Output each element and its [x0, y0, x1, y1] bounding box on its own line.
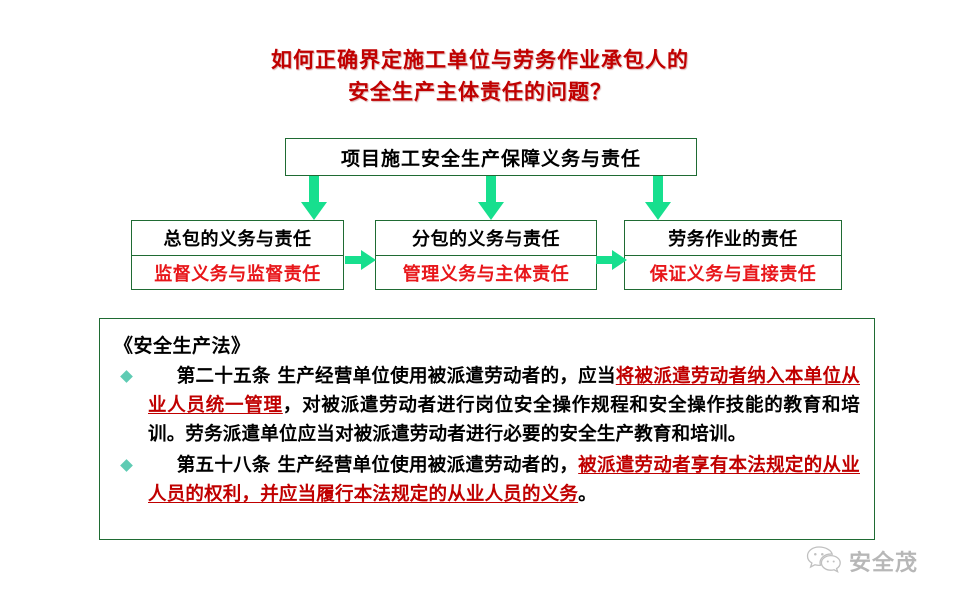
- law-reference-panel: 《安全生产法》 第二十五条 生产经营单位使用被派遣劳动者的，应当将被派遣劳动者纳…: [99, 318, 875, 540]
- diamond-bullet-icon: [120, 459, 133, 472]
- flow-box-labor-service: 劳务作业的责任 保证义务与直接责任: [624, 220, 842, 290]
- flow-box-general-contractor: 总包的义务与责任 监督义务与监督责任: [131, 220, 344, 290]
- law-article-text: 第五十八条 生产经营单位使用被派遣劳动者的，被派遣劳动者享有本法规定的从业人员的…: [148, 455, 860, 505]
- flow-box-detail: 保证义务与直接责任: [625, 256, 841, 290]
- law-text-plain: 第五十八条 生产经营单位使用被派遣劳动者的，: [177, 455, 578, 476]
- flow-root-box-label: 项目施工安全生产保障义务与责任: [341, 144, 641, 171]
- right-arrow-icon-2: [596, 250, 627, 270]
- watermark-label: 安全茂: [849, 545, 918, 577]
- flow-box-heading: 总包的义务与责任: [132, 221, 343, 256]
- law-text-plain: 第二十五条 生产经营单位使用被派遣劳动者的，应当: [177, 366, 616, 387]
- arrow-head: [361, 250, 376, 270]
- right-arrow-icon-1: [345, 250, 376, 270]
- diamond-bullet-icon: [120, 370, 133, 383]
- flow-box-heading: 分包的义务与责任: [376, 221, 596, 256]
- law-article-text: 第二十五条 生产经营单位使用被派遣劳动者的，应当将被派遣劳动者纳入本单位从业人员…: [148, 366, 860, 445]
- arrow-shaft: [653, 176, 663, 204]
- flow-box-detail: 管理义务与主体责任: [376, 256, 596, 290]
- watermark: 安全茂: [806, 540, 952, 582]
- arrow-head: [301, 202, 327, 220]
- responsibility-flow-diagram: 项目施工安全生产保障义务与责任 总包的义务与责任 监督义务与监督责任 分包的义务…: [0, 138, 960, 298]
- down-arrow-icon-2: [478, 176, 504, 220]
- flow-root-box: 项目施工安全生产保障义务与责任: [285, 138, 697, 176]
- law-article-item: 第五十八条 生产经营单位使用被派遣劳动者的，被派遣劳动者享有本法规定的从业人员的…: [114, 451, 860, 509]
- down-arrow-icon-3: [645, 176, 671, 220]
- wechat-bubble-icon: [806, 545, 842, 577]
- arrow-head: [612, 250, 627, 270]
- law-article-item: 第二十五条 生产经营单位使用被派遣劳动者的，应当将被派遣劳动者纳入本单位从业人员…: [114, 362, 860, 449]
- law-article-list: 第二十五条 生产经营单位使用被派遣劳动者的，应当将被派遣劳动者纳入本单位从业人员…: [114, 362, 860, 509]
- page-title: 如何正确界定施工单位与劳务作业承包人的 安全生产主体责任的问题？: [0, 44, 960, 108]
- arrow-shaft: [486, 176, 496, 204]
- flow-box-heading: 劳务作业的责任: [625, 221, 841, 256]
- down-arrow-icon-1: [301, 176, 327, 220]
- arrow-head: [645, 202, 671, 220]
- law-text-plain: 。: [578, 484, 597, 505]
- flow-box-detail: 监督义务与监督责任: [132, 256, 343, 290]
- page-title-line-2: 安全生产主体责任的问题？: [0, 76, 960, 108]
- arrow-head: [478, 202, 504, 220]
- flow-box-subcontractor: 分包的义务与责任 管理义务与主体责任: [375, 220, 597, 290]
- law-panel-heading: 《安全生产法》: [114, 331, 860, 358]
- page-title-line-1: 如何正确界定施工单位与劳务作业承包人的: [0, 44, 960, 76]
- arrow-shaft: [309, 176, 319, 204]
